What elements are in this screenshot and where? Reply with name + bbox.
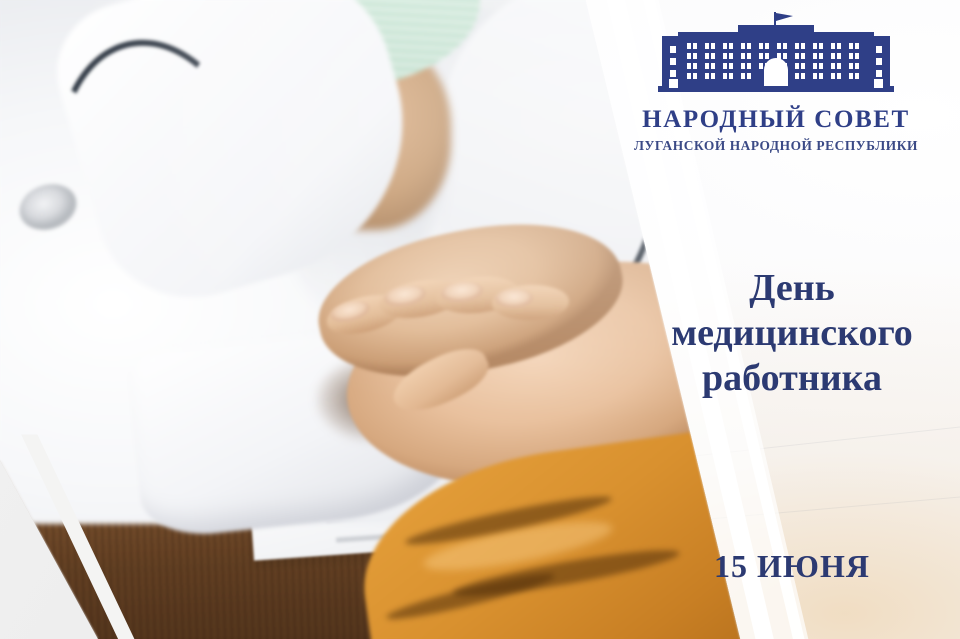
brand-block: НАРОДНЫЙ СОВЕТ ЛУГАНСКОЙ НАРОДНОЙ РЕСПУБ… (620, 10, 932, 154)
event-date: 15 ИЮНЯ (636, 548, 948, 585)
parliament-building-emblem (652, 10, 900, 98)
headline-line-3: работника (636, 356, 948, 401)
poster-canvas: НАРОДНЫЙ СОВЕТ ЛУГАНСКОЙ НАРОДНОЙ РЕСПУБ… (0, 0, 960, 639)
headline: День медицинского работника (636, 266, 948, 402)
headline-line-2: медицинского (636, 311, 948, 356)
brand-subtitle: ЛУГАНСКОЙ НАРОДНОЙ РЕСПУБЛИКИ (620, 138, 932, 154)
headline-line-1: День (636, 266, 948, 311)
brand-name: НАРОДНЫЙ СОВЕТ (620, 106, 932, 134)
